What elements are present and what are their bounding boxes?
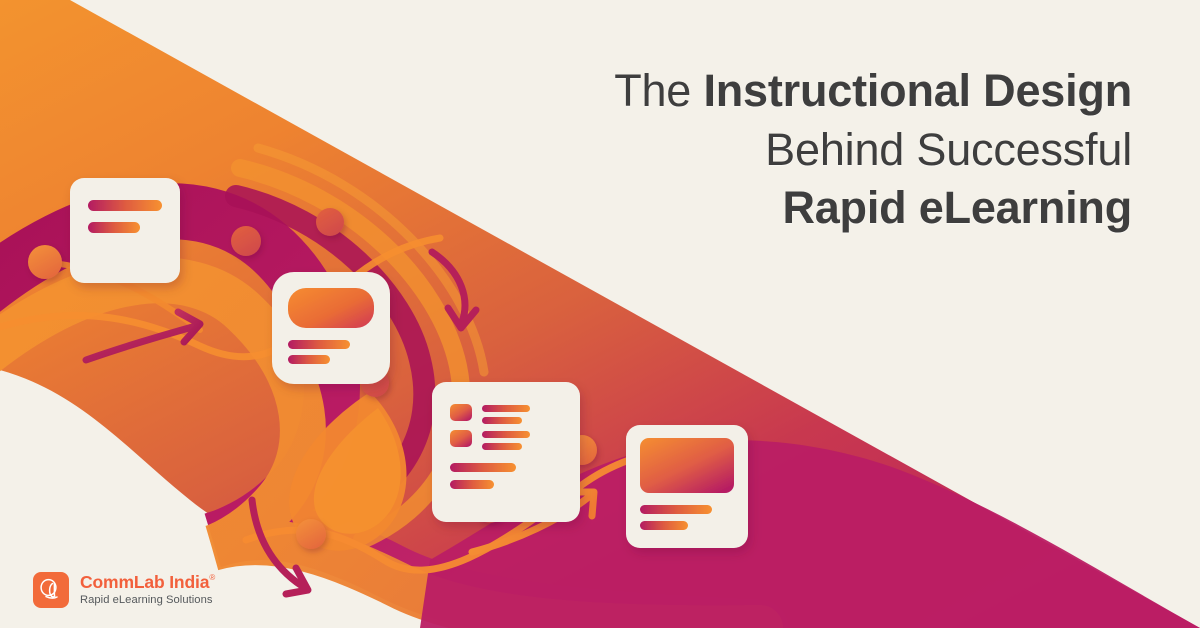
headline-line-2: Behind Successful — [512, 121, 1132, 180]
headline-line-1: The Instructional Design — [512, 62, 1132, 121]
card-bar — [640, 505, 712, 514]
milestone-dot — [316, 208, 344, 236]
milestone-dot — [231, 226, 261, 256]
card-bar — [88, 200, 162, 211]
card-bar — [482, 431, 530, 438]
card-list — [432, 382, 580, 522]
logo-tagline: Rapid eLearning Solutions — [80, 595, 215, 607]
card-bar — [288, 340, 350, 349]
card-media-big — [626, 425, 748, 548]
registered-trademark-icon: ® — [209, 573, 215, 582]
commlab-monogram-icon — [33, 572, 69, 608]
card-bar — [640, 521, 688, 530]
card-bar — [482, 443, 522, 450]
card-bullet — [450, 404, 472, 421]
logo-company-name-text: CommLab India — [80, 572, 209, 592]
headline-line-3: Rapid eLearning — [512, 179, 1132, 238]
card-media — [640, 438, 734, 493]
banner-canvas: The Instructional Design Behind Successf… — [0, 0, 1200, 628]
card-bullet — [450, 430, 472, 447]
headline-block: The Instructional Design Behind Successf… — [512, 62, 1132, 238]
logo-company-name: CommLab India® — [80, 573, 215, 592]
card-bar — [482, 417, 522, 424]
card-bar — [288, 355, 330, 364]
milestone-dot — [28, 245, 62, 279]
logo-text-block: CommLab India® Rapid eLearning Solutions — [80, 573, 215, 606]
card-bar — [88, 222, 140, 233]
card-bar — [450, 463, 516, 472]
card-media-top — [272, 272, 390, 384]
milestone-dot — [296, 519, 326, 549]
card-bar — [450, 480, 494, 489]
brand-logo[interactable]: CommLab India® Rapid eLearning Solutions — [33, 572, 215, 608]
headline-line-1-lead: The — [614, 65, 703, 116]
card-bar — [482, 405, 530, 412]
card-text-lines — [70, 178, 180, 283]
card-media — [288, 288, 374, 328]
headline-line-1-strong: Instructional Design — [703, 65, 1132, 116]
